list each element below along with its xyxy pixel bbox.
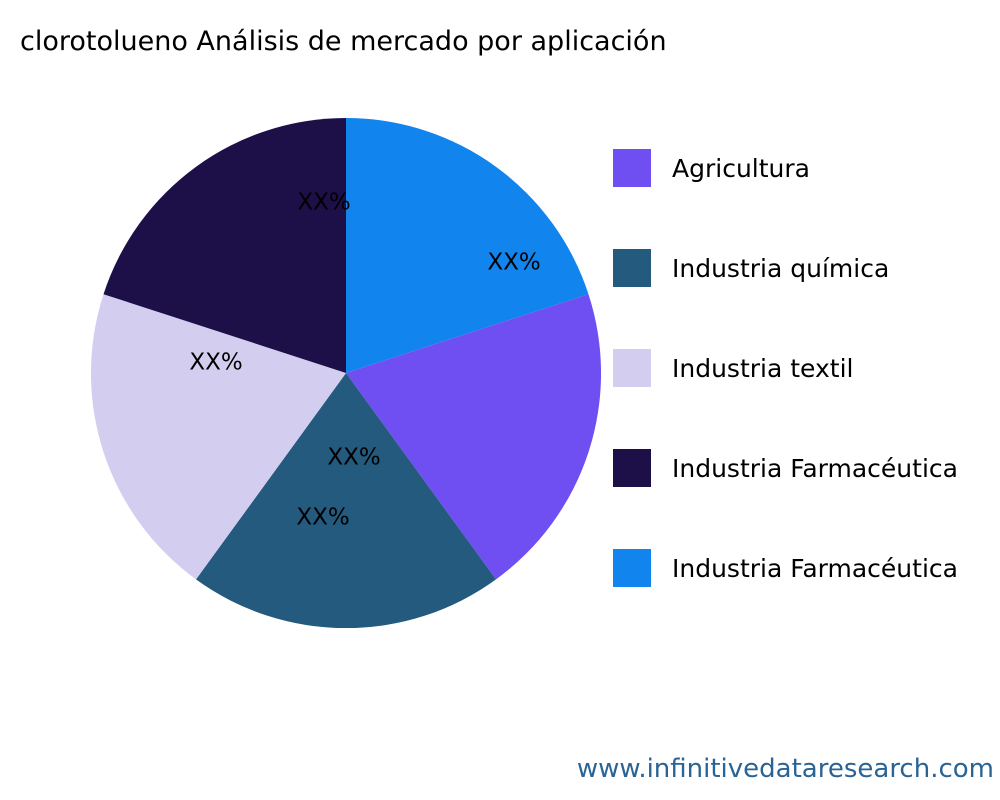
legend-item-label: Agricultura	[672, 154, 810, 183]
legend-item-industria-farmaceutica-blue[interactable]: Industria Farmacéutica	[613, 518, 1000, 618]
page-title: clorotolueno Análisis de mercado por apl…	[20, 26, 667, 57]
legend-swatch-icon	[613, 549, 651, 587]
legend-item-label: Industria textil	[672, 354, 853, 383]
source-url: www.infinitivedataresearch.com	[0, 754, 1000, 784]
legend-swatch-icon	[613, 249, 651, 287]
legend-item-label: Industria química	[672, 254, 889, 283]
pie-slice-label: XX%	[487, 250, 540, 276]
pie-chart: XX% XX% XX% XX% XX%	[91, 118, 601, 628]
legend-item-agricultura[interactable]: Agricultura	[613, 118, 1000, 218]
legend-item-industria-farmaceutica-dark[interactable]: Industria Farmacéutica	[613, 418, 1000, 518]
legend-item-label: Industria Farmacéutica	[672, 554, 958, 583]
pie-slice-label: XX%	[296, 505, 349, 531]
pie-slice-label: XX%	[327, 445, 380, 471]
legend-swatch-icon	[613, 349, 651, 387]
pie-slice-label: XX%	[189, 350, 242, 376]
legend-swatch-icon	[613, 149, 651, 187]
legend-item-industria-quimica[interactable]: Industria química	[613, 218, 1000, 318]
legend: Agricultura Industria química Industria …	[613, 118, 1000, 618]
legend-item-label: Industria Farmacéutica	[672, 454, 958, 483]
legend-item-industria-textil[interactable]: Industria textil	[613, 318, 1000, 418]
legend-swatch-icon	[613, 449, 651, 487]
pie-chart-svg: XX% XX% XX% XX% XX%	[91, 118, 601, 628]
pie-slice-label: XX%	[297, 190, 350, 216]
footer: www.infinitivedataresearch.com	[0, 754, 1000, 784]
